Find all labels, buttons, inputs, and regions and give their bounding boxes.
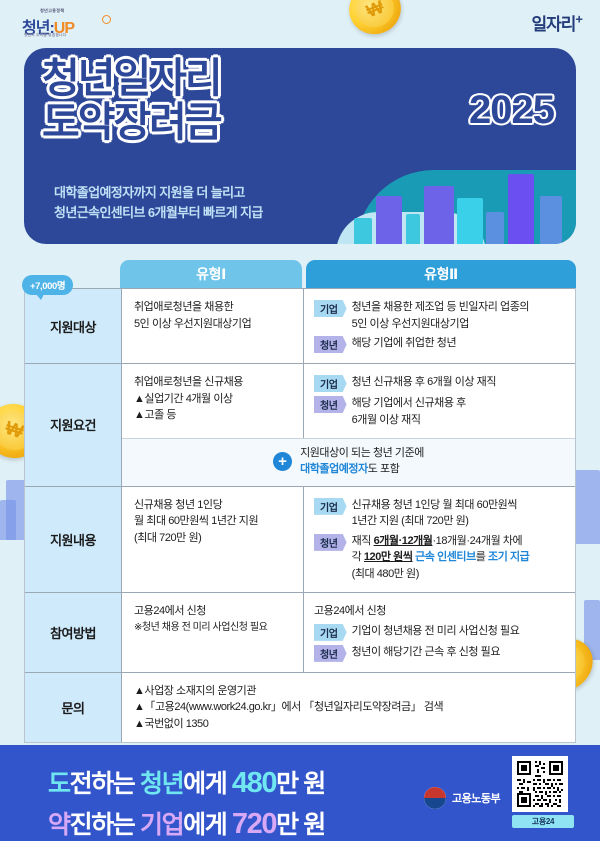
plus-icon: + [273, 452, 292, 471]
callout-inner: + 지원대상이 되는 청년 기준에 대학졸업예정자도 포함 [122, 439, 575, 486]
slogan: 도전하는 청년에게 480만 원 약진하는 기업에게 720만 원 [48, 763, 325, 841]
hero-title: 청년일자리 도약장려금 [42, 56, 221, 145]
badge-text: 해당 기업에 취업한 청년 [352, 335, 457, 352]
hero-title-line2: 도약장려금 [42, 100, 221, 144]
badge-text: 청년을 채용한 제조업 등 빈일자리 업종의 5인 이상 우선지원대상기업 [352, 299, 529, 332]
callout-highlight: 대학졸업예정자 [300, 463, 368, 475]
cell-line: ▲실업기간 4개월 이상 [134, 391, 293, 408]
decor-building-1 [354, 218, 372, 244]
slogan-line2: 약진하는 기업에게 720만 원 [48, 804, 325, 841]
cell-type1-requirement: 취업애로청년을 신규채용 ▲실업기간 4개월 이상 ▲고졸 등 [122, 364, 304, 438]
slogan-lead-2: 약 [48, 811, 70, 839]
row-label-target: +7,000명 지원대상 [25, 289, 122, 363]
decor-building-8 [540, 196, 562, 244]
slogan-youth: 청년 [140, 770, 183, 798]
hero-subtitle-line1: 대학졸업예정자까지 지원을 더 늘리고 [54, 183, 263, 203]
jobs-plus-logo: 일자리+ [531, 10, 582, 35]
decor-building-6 [486, 212, 504, 244]
decor-building-2 [376, 196, 402, 244]
badge-text: 청년이 해당기간 근속 후 신청 필요 [352, 644, 500, 661]
cell-type1-target: 취업애로청년을 채용한 5인 이상 우선지원대상기업 [122, 289, 304, 363]
decor-building-7 [508, 174, 534, 244]
badge-line: 청년 해당 기업에 취업한 청년 [314, 335, 567, 353]
cell-line: 고용24에서 신청 [134, 603, 293, 620]
benefit-table: 유형Ⅰ 유형Ⅱ +7,000명 지원대상 취업애로청년을 채용한 5인 이상 우… [24, 256, 576, 743]
badge-line: 청년 해당 기업에서 신규채용 후 6개월 이상 재직 [314, 395, 567, 428]
decor-building-5 [457, 198, 483, 244]
cell-line: ▲고졸 등 [134, 407, 293, 424]
badge-text-rich: 재직 6개월·12개월·18개월·24개월 차에 각 120만 원씩 근속 인센… [352, 533, 530, 583]
cell-line: 5인 이상 우선지원대상기업 [134, 316, 293, 333]
badge-line: 기업 청년 신규채용 후 6개월 이상 재직 [314, 374, 567, 392]
cell-line: 취업애로청년을 채용한 [134, 299, 293, 316]
youth-up-logo: 청년고용정책 청년:UP 청년의 도약을 응원합니다 [22, 8, 118, 44]
hero-title-line1: 청년일자리 [42, 56, 221, 100]
cell-line: 취업애로청년을 신규채용 [134, 374, 293, 391]
decor-building-left2 [0, 500, 16, 540]
taegeuk-icon [424, 787, 446, 809]
slogan-amount-1: 480 [232, 767, 276, 799]
cell-type2-content: 기업 신규채용 청년 1인당 월 최대 60만원씩 1년간 지원 (최대 720… [304, 487, 575, 593]
youth-badge: 청년 [314, 534, 347, 551]
hero-subtitle-line2: 청년근속인센티브 6개월부터 빠르게 지급 [54, 203, 263, 223]
table-header-type2: 유형Ⅱ [306, 260, 576, 288]
row-label-inquiry: 문의 [25, 673, 122, 743]
cell-line: ※청년 채용 전 미리 사업신청 필요 [134, 620, 293, 635]
highlight-amount: 120만 원씩 [364, 551, 413, 563]
cell-line: ▲「고용24(www.work24.go.kr」에서 「청년일자리도약장려금」 … [134, 699, 567, 716]
qr-code-icon[interactable] [512, 756, 568, 812]
cell-line: ▲사업장 소재지의 운영기관 [134, 683, 567, 700]
ministry-logo: 고용노동부 [424, 787, 500, 809]
callout-text: 지원대상이 되는 청년 기준에 대학졸업예정자도 포함 [300, 446, 424, 478]
table-row: 문의 ▲사업장 소재지의 운영기관 ▲「고용24(www.work24.go.k… [25, 672, 575, 743]
qr-label: 고용24 [512, 815, 574, 828]
slogan-lead-1: 도 [48, 770, 70, 798]
cell-line: 월 최대 60만원씩 1년간 지원 [134, 513, 293, 530]
hero-banner: 청년일자리 도약장려금 2025 대학졸업예정자까지 지원을 더 늘리고 청년근… [24, 48, 576, 244]
cell-type2-target: 기업 청년을 채용한 제조업 등 빈일자리 업종의 5인 이상 우선지원대상기업… [304, 289, 575, 363]
table-header-type1: 유형Ⅰ [120, 260, 302, 288]
slogan-line1: 도전하는 청년에게 480만 원 [48, 763, 325, 804]
cell-line: ▲국번없이 1350 [134, 716, 567, 733]
row-label-method: 참여방법 [25, 593, 122, 672]
row-label-content: 지원내용 [25, 487, 122, 593]
company-badge: 기업 [314, 375, 347, 392]
table-header-row: 유형Ⅰ 유형Ⅱ [24, 256, 576, 288]
decor-building-3 [406, 214, 420, 244]
cell-line: 신규채용 청년 1인당 [134, 497, 293, 514]
cell-type2-method: 고용24에서 신청 기업 기업이 청년채용 전 미리 사업신청 필요 청년 청년… [304, 593, 575, 672]
badge-text: 해당 기업에서 신규채용 후 6개월 이상 재직 [352, 395, 466, 428]
youth-badge: 청년 [314, 396, 347, 413]
logo-ring-icon [102, 15, 111, 24]
cell-line: (최대 720만 원) [134, 530, 293, 547]
badge-text: 청년 신규채용 후 6개월 이상 재직 [352, 374, 496, 391]
decor-building-4 [424, 186, 454, 244]
callout-row: + 지원대상이 되는 청년 기준에 대학졸업예정자도 포함 [122, 438, 575, 486]
slogan-company: 기업 [140, 811, 183, 839]
bottom-banner: 도전하는 청년에게 480만 원 약진하는 기업에게 720만 원 고용노동부 [0, 745, 600, 841]
top-bar: 청년고용정책 청년:UP 청년의 도약을 응원합니다 일자리+ [0, 0, 600, 52]
badge-line: 청년 재직 6개월·12개월·18개월·24개월 차에 각 120만 원씩 근속… [314, 533, 567, 583]
plus-mark-icon: + [575, 11, 582, 26]
highlight-months: 6개월·12개월 [374, 535, 433, 547]
cell-type1-content: 신규채용 청년 1인당 월 최대 60만원씩 1년간 지원 (최대 720만 원… [122, 487, 304, 593]
table-body: +7,000명 지원대상 취업애로청년을 채용한 5인 이상 우선지원대상기업 … [24, 288, 576, 743]
table-row: +7,000명 지원대상 취업애로청년을 채용한 5인 이상 우선지원대상기업 … [25, 288, 575, 363]
highlight-incentive: 근속 인센티브 [413, 551, 476, 563]
hero-year: 2025 [469, 88, 554, 133]
badge-text: 신규채용 청년 1인당 월 최대 60만원씩 1년간 지원 (최대 720만 원… [352, 497, 517, 530]
ministry-name: 고용노동부 [452, 790, 500, 806]
qr-block[interactable]: 고용24 [512, 756, 574, 828]
row-label-requirement: 지원요건 [25, 364, 122, 486]
badge-line: 기업 기업이 청년채용 전 미리 사업신청 필요 [314, 623, 567, 641]
poster-root: 청년고용정책 청년:UP 청년의 도약을 응원합니다 일자리+ ₩ ₩ ₩ 청년… [0, 0, 600, 841]
badge-line: 기업 신규채용 청년 1인당 월 최대 60만원씩 1년간 지원 (최대 720… [314, 497, 567, 530]
table-row: 지원내용 신규채용 청년 1인당 월 최대 60만원씩 1년간 지원 (최대 7… [25, 486, 575, 593]
cell-type2-requirement: 기업 청년 신규채용 후 6개월 이상 재직 청년 해당 기업에서 신규채용 후… [304, 364, 575, 438]
status-badge-count: +7,000명 [22, 275, 73, 295]
table-row: 참여방법 고용24에서 신청 ※청년 채용 전 미리 사업신청 필요 고용24에… [25, 592, 575, 672]
company-badge: 기업 [314, 300, 347, 317]
logo-subtitle: 청년의 도약을 응원합니다 [24, 33, 66, 38]
company-badge: 기업 [314, 498, 347, 515]
youth-badge: 청년 [314, 645, 347, 662]
cell-type1-method: 고용24에서 신청 ※청년 채용 전 미리 사업신청 필요 [122, 593, 304, 672]
youth-badge: 청년 [314, 336, 347, 353]
badge-line: 기업 청년을 채용한 제조업 등 빈일자리 업종의 5인 이상 우선지원대상기업 [314, 299, 567, 332]
badge-text: 기업이 청년채용 전 미리 사업신청 필요 [352, 623, 520, 640]
hero-subtitle: 대학졸업예정자까지 지원을 더 늘리고 청년근속인센티브 6개월부터 빠르게 지… [54, 183, 263, 222]
cell-inquiry: ▲사업장 소재지의 운영기관 ▲「고용24(www.work24.go.kr」에… [122, 673, 575, 743]
company-badge: 기업 [314, 624, 347, 641]
table-row: 지원요건 취업애로청년을 신규채용 ▲실업기간 4개월 이상 ▲고졸 등 기업 … [25, 363, 575, 486]
badge-line: 청년 청년이 해당기간 근속 후 신청 필요 [314, 644, 567, 662]
cell-intro: 고용24에서 신청 [314, 603, 567, 620]
row-label-text: 지원대상 [50, 317, 96, 336]
slogan-amount-2: 720 [232, 808, 276, 840]
highlight-early-pay: 조기 지급 [488, 551, 529, 563]
